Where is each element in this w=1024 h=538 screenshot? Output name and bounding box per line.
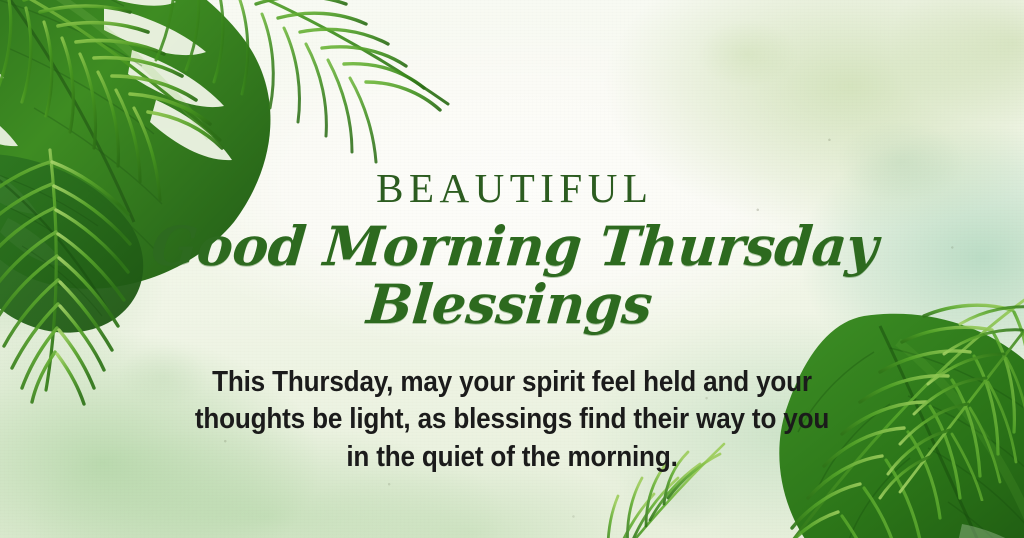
- body-message: This Thursday, may your spirit feel held…: [193, 364, 832, 477]
- greeting-card: BEAUTIFUL Good Morning Thursday Blessing…: [0, 0, 1024, 538]
- eyebrow-heading: BEAUTIFUL: [0, 168, 1024, 209]
- page-title: Good Morning Thursday Blessings: [0, 217, 1024, 334]
- text-block: BEAUTIFUL Good Morning Thursday Blessing…: [0, 168, 1024, 477]
